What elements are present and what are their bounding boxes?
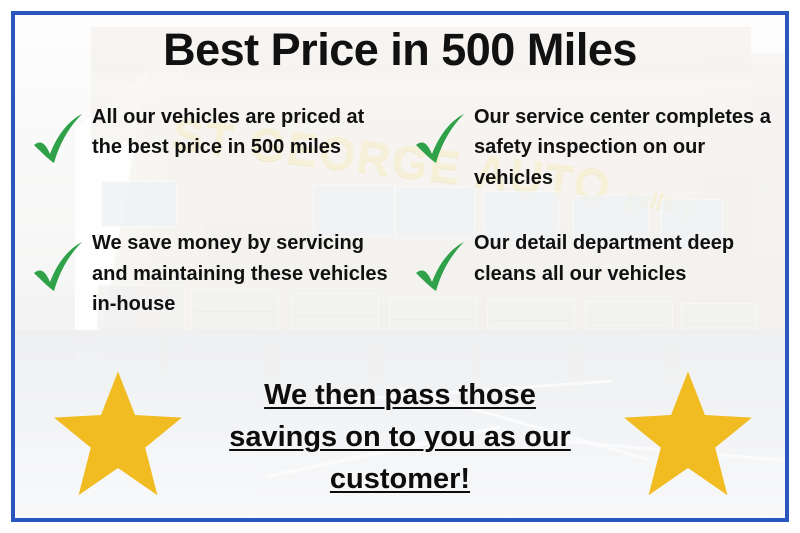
star-icon-right — [620, 368, 756, 505]
benefit-text: Our service center completes a safety in… — [474, 95, 784, 193]
closing-line-2: savings on to you as our — [229, 421, 571, 453]
benefit-text: We save money by servicing and maintaini… — [92, 221, 392, 319]
green-check-icon — [28, 109, 88, 171]
page-title: Best Price in 500 Miles — [0, 26, 800, 73]
benefit-item-detail: Our detail department deep cleans all ou… — [400, 221, 800, 319]
benefits-row: We save money by servicing and maintaini… — [0, 221, 800, 319]
benefit-item-in-house: We save money by servicing and maintaini… — [0, 221, 400, 319]
promo-poster: ST GEORGE AUTO gallery — [0, 0, 800, 533]
benefit-text: All our vehicles are priced at the best … — [92, 95, 392, 163]
benefit-text: Our detail department deep cleans all ou… — [474, 221, 784, 289]
benefit-item-service: Our service center completes a safety in… — [400, 95, 800, 193]
closing-line-1: We then pass those — [264, 379, 536, 411]
green-check-icon — [410, 237, 470, 299]
green-check-icon — [28, 237, 88, 299]
green-check-icon — [410, 109, 470, 171]
benefit-item-pricing: All our vehicles are priced at the best … — [0, 95, 400, 193]
star-icon-left — [50, 368, 186, 505]
benefits-list: All our vehicles are priced at the best … — [0, 95, 800, 319]
poster-content: Best Price in 500 Miles All — [0, 0, 800, 533]
closing-statement: We then pass those savings on to you as … — [178, 375, 622, 500]
closing-line-3: customer! — [330, 463, 470, 495]
benefits-row: All our vehicles are priced at the best … — [0, 95, 800, 193]
